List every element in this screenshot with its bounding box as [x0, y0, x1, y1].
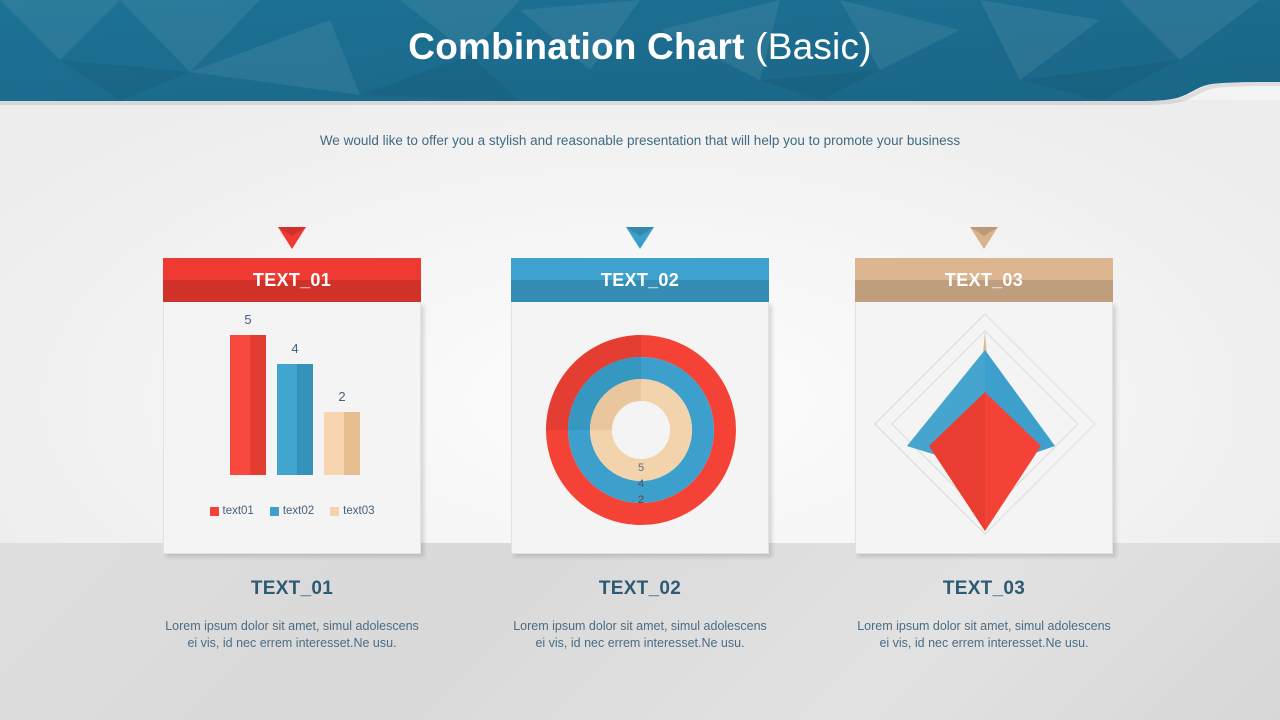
donut-chart: 5 4 2	[512, 302, 768, 553]
header-banner: Combination Chart (Basic)	[0, 0, 1280, 108]
page-title-bold: Combination Chart	[408, 26, 755, 67]
bar-text01: 5	[230, 335, 266, 475]
legend-swatch-icon	[270, 507, 279, 516]
triangle-marker-icon	[278, 227, 306, 249]
card-body-bar-chart: 5 4 2	[163, 302, 421, 554]
legend-item-text02: text02	[270, 505, 314, 517]
bar-chart: 5 4 2	[164, 302, 420, 553]
card-text03[interactable]: TEXT_03	[855, 227, 1113, 554]
triangle-marker-icon	[626, 227, 654, 249]
legend-item-text01: text01	[210, 505, 254, 517]
radar-chart	[856, 302, 1112, 553]
donut-value-label-outer: 2	[631, 494, 651, 506]
caption-body: Lorem ipsum dolor sit amet, simul adoles…	[163, 618, 421, 652]
triangle-marker-icon	[970, 227, 998, 249]
bar-face-dark	[344, 412, 360, 475]
card-header-label: TEXT_02	[601, 270, 679, 290]
card-header-label: TEXT_03	[945, 270, 1023, 290]
legend-label: text01	[223, 505, 254, 517]
bar-face-light	[230, 335, 250, 475]
card-text02[interactable]: TEXT_02	[511, 227, 769, 554]
bar-face-light	[324, 412, 344, 475]
legend-label: text02	[283, 505, 314, 517]
bar-value-label-2: 4	[277, 341, 313, 356]
donut-value-label-middle: 4	[631, 478, 651, 490]
caption-body: Lorem ipsum dolor sit amet, simul adoles…	[511, 618, 769, 652]
card-header-label: TEXT_01	[253, 270, 331, 290]
bar-face-light	[277, 364, 297, 475]
bar-text02: 4	[277, 364, 313, 475]
caption-title: TEXT_01	[163, 578, 421, 600]
page-title-light: (Basic)	[755, 26, 872, 67]
radar-chart-svg	[856, 302, 1113, 553]
bar-chart-plot: 5 4 2	[230, 335, 360, 475]
bar-face-dark	[297, 364, 313, 475]
card-body-radar-chart	[855, 302, 1113, 554]
subtitle: We would like to offer you a stylish and…	[0, 133, 1280, 148]
caption-text03: TEXT_03 Lorem ipsum dolor sit amet, simu…	[855, 578, 1113, 652]
bar-value-label-1: 5	[230, 312, 266, 327]
caption-body: Lorem ipsum dolor sit amet, simul adoles…	[855, 618, 1113, 652]
bar-text03: 2	[324, 412, 360, 475]
card-header-text01[interactable]: TEXT_01	[163, 258, 421, 302]
caption-title: TEXT_03	[855, 578, 1113, 600]
caption-text02: TEXT_02 Lorem ipsum dolor sit amet, simu…	[511, 578, 769, 652]
card-body-donut-chart: 5 4 2	[511, 302, 769, 554]
legend-swatch-icon	[210, 507, 219, 516]
card-header-text02[interactable]: TEXT_02	[511, 258, 769, 302]
donut-chart-svg	[512, 302, 769, 553]
caption-title: TEXT_02	[511, 578, 769, 600]
legend-item-text03: text03	[330, 505, 374, 517]
bar-chart-legend: text01 text02 text03	[164, 505, 420, 517]
legend-label: text03	[343, 505, 374, 517]
legend-swatch-icon	[330, 507, 339, 516]
card-header-text03[interactable]: TEXT_03	[855, 258, 1113, 302]
bar-face-dark	[250, 335, 266, 475]
card-text01[interactable]: TEXT_01 5 4 2	[163, 227, 421, 554]
caption-text01: TEXT_01 Lorem ipsum dolor sit amet, simu…	[163, 578, 421, 652]
slide: Combination Chart (Basic) We would like …	[0, 0, 1280, 720]
bar-value-label-3: 2	[324, 389, 360, 404]
page-title: Combination Chart (Basic)	[0, 26, 1280, 68]
donut-value-label-inner: 5	[631, 462, 651, 474]
